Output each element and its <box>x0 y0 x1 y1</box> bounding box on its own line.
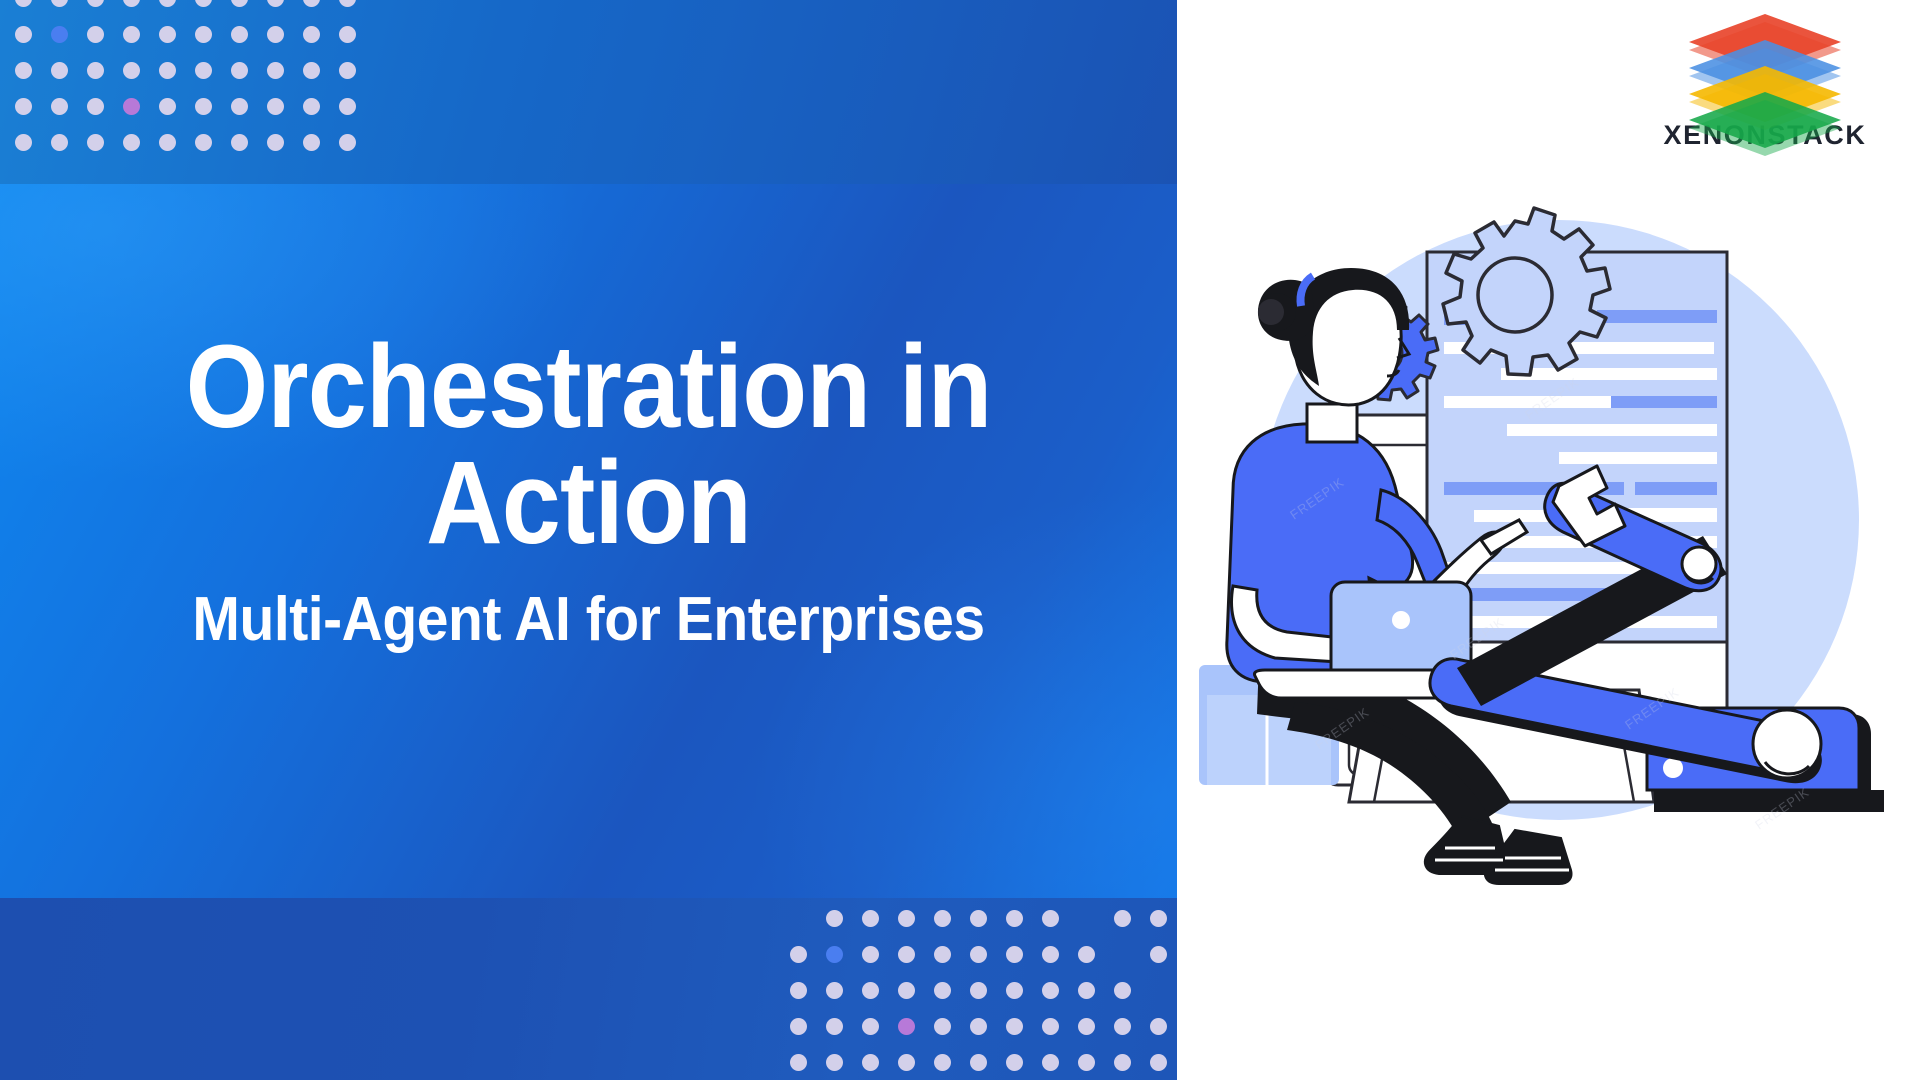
decorative-dot <box>231 134 248 151</box>
decorative-dot <box>339 98 356 115</box>
decorative-dot <box>51 98 68 115</box>
decorative-dot <box>934 982 951 999</box>
decorative-dot <box>267 26 284 43</box>
decorative-dot <box>195 62 212 79</box>
decorative-dot <box>970 1018 987 1035</box>
decorative-dot <box>123 62 140 79</box>
decorative-dot <box>862 946 879 963</box>
decorative-dot <box>1078 946 1095 963</box>
decorative-dot <box>970 910 987 927</box>
decorative-dot <box>1078 982 1095 999</box>
decorative-dot <box>231 26 248 43</box>
decorative-dot <box>51 26 68 43</box>
decorative-dot <box>123 98 140 115</box>
hero-text-block: Orchestration in Action Multi-Agent AI f… <box>0 330 1177 652</box>
decorative-dot <box>303 62 320 79</box>
decorative-dot <box>1006 1054 1023 1071</box>
decorative-dot <box>159 62 176 79</box>
hero-blue-panel: Orchestration in Action Multi-Agent AI f… <box>0 0 1177 1080</box>
decorative-dot <box>1150 946 1167 963</box>
decorative-dot <box>267 134 284 151</box>
decorative-dot <box>15 26 32 43</box>
decorative-dot <box>826 946 843 963</box>
decorative-dot <box>862 1018 879 1035</box>
decorative-dot <box>1150 910 1167 927</box>
decorative-dot <box>1114 1018 1131 1035</box>
decorative-dot <box>123 134 140 151</box>
decorative-dot <box>934 1054 951 1071</box>
decorative-dot <box>1006 982 1023 999</box>
decorative-dot <box>790 1018 807 1035</box>
decorative-dot <box>195 134 212 151</box>
decorative-dot <box>1078 1018 1095 1035</box>
decorative-dot <box>1042 982 1059 999</box>
decorative-dot <box>15 62 32 79</box>
decorative-dot <box>898 946 915 963</box>
decorative-dot <box>1006 946 1023 963</box>
page-title: Orchestration in Action <box>59 330 1118 561</box>
decorative-dot <box>970 1054 987 1071</box>
decorative-dot <box>1006 910 1023 927</box>
decorative-dot <box>1078 1054 1095 1071</box>
decorative-dot <box>267 98 284 115</box>
bottom-band <box>0 898 1177 1080</box>
decorative-dot <box>87 26 104 43</box>
decorative-dot <box>1042 946 1059 963</box>
decorative-dot <box>898 910 915 927</box>
decorative-dot <box>862 1054 879 1071</box>
decorative-dot <box>159 26 176 43</box>
decorative-dot <box>87 134 104 151</box>
decorative-dot <box>195 26 212 43</box>
decorative-dot <box>1042 1054 1059 1071</box>
decorative-dot <box>303 134 320 151</box>
decorative-dot <box>1114 1054 1131 1071</box>
decorative-dot <box>267 62 284 79</box>
decorative-dot <box>1042 910 1059 927</box>
slide-canvas: Orchestration in Action Multi-Agent AI f… <box>0 0 1920 1080</box>
decorative-dot <box>339 62 356 79</box>
decorative-dot <box>826 1018 843 1035</box>
decorative-dot <box>87 62 104 79</box>
decorative-dot <box>826 982 843 999</box>
decorative-dot <box>790 1054 807 1071</box>
decorative-dot <box>231 98 248 115</box>
decorative-dot <box>1150 1054 1167 1071</box>
decorative-dot <box>87 98 104 115</box>
decorative-dot <box>231 62 248 79</box>
decorative-dot <box>303 98 320 115</box>
decorative-dot <box>790 946 807 963</box>
decorative-dot <box>826 1054 843 1071</box>
decorative-dot <box>1006 1018 1023 1035</box>
decorative-dot <box>195 98 212 115</box>
decorative-dot <box>1150 1018 1167 1035</box>
decorative-dot <box>934 910 951 927</box>
decorative-dot <box>862 982 879 999</box>
decorative-dot <box>15 134 32 151</box>
decorative-dot <box>970 946 987 963</box>
decorative-dot <box>898 1018 915 1035</box>
decorative-dot <box>790 982 807 999</box>
decorative-dot <box>15 98 32 115</box>
decorative-dot <box>862 910 879 927</box>
decorative-dot <box>898 982 915 999</box>
decorative-dot <box>159 98 176 115</box>
decorative-dot <box>339 26 356 43</box>
decorative-dot <box>51 62 68 79</box>
top-band <box>0 0 1177 184</box>
decorative-dot <box>159 134 176 151</box>
decorative-dot <box>934 1018 951 1035</box>
decorative-dot <box>970 982 987 999</box>
decorative-dot <box>123 26 140 43</box>
decorative-dot <box>339 134 356 151</box>
decorative-dot <box>1042 1018 1059 1035</box>
decorative-dot <box>1114 910 1131 927</box>
hero-illustration: FREEPIK FREEPIK FREEPIK FREEPIK FREEPIK … <box>1177 0 1920 1080</box>
decorative-dot <box>934 946 951 963</box>
decorative-dot <box>1114 982 1131 999</box>
decorative-dot <box>51 134 68 151</box>
decorative-dot <box>303 26 320 43</box>
decorative-dot <box>826 910 843 927</box>
page-subtitle: Multi-Agent AI for Enterprises <box>47 587 1130 652</box>
decorative-dot <box>898 1054 915 1071</box>
